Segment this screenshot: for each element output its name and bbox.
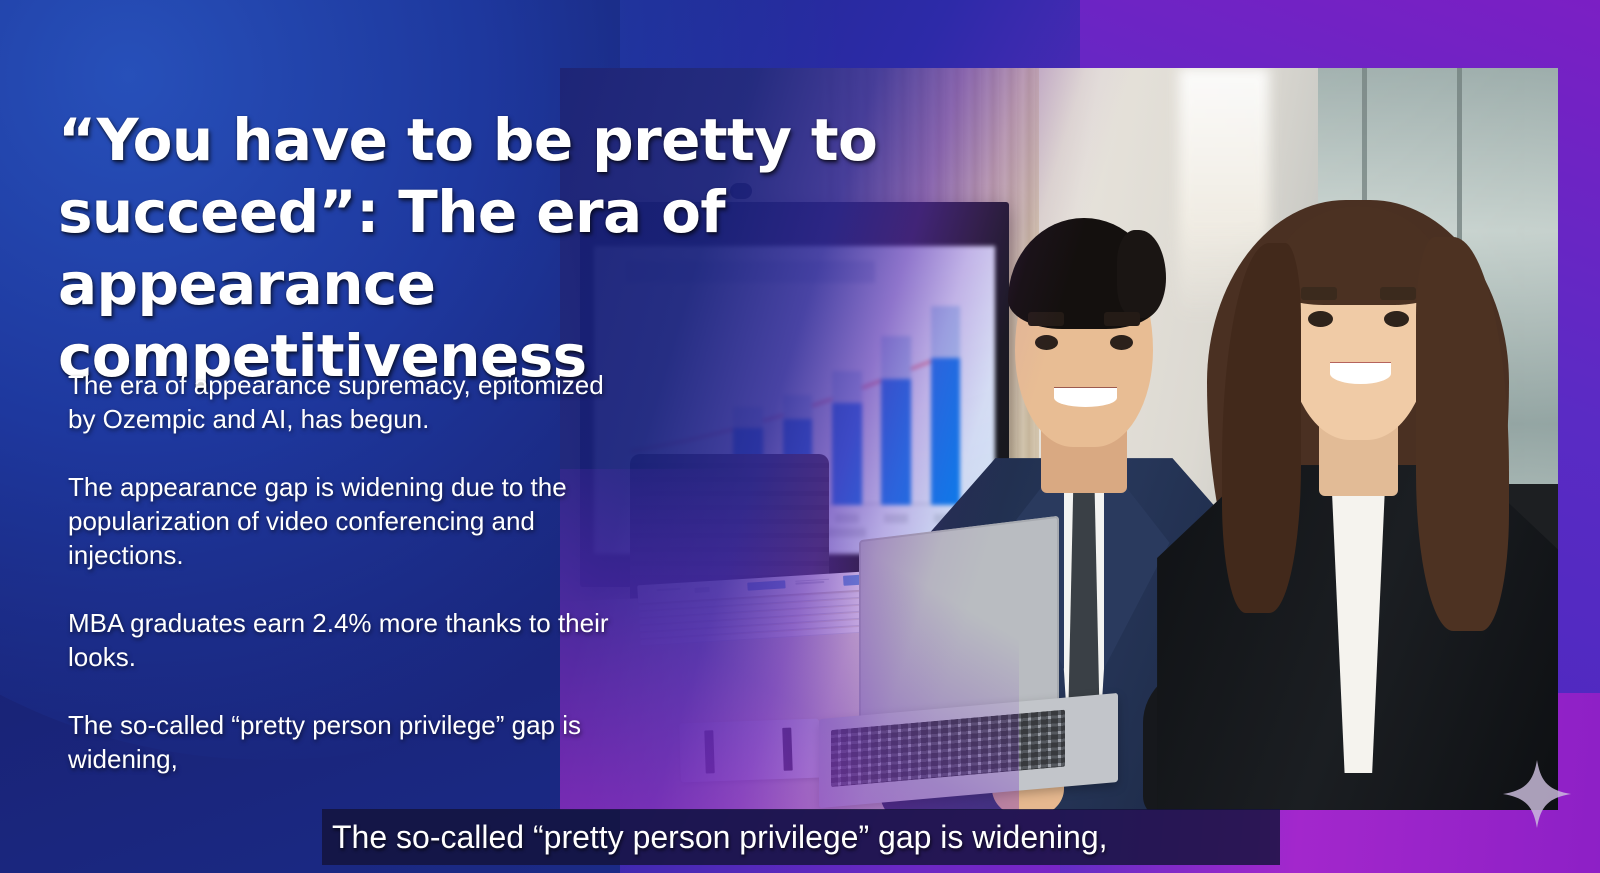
bullet-item: MBA graduates earn 2.4% more thanks to t…	[68, 606, 628, 674]
slide-canvas: “You have to be pretty to succeed”: The …	[0, 0, 1600, 873]
caption-text: The so-called “pretty person privilege” …	[322, 819, 1108, 856]
bullet-item: The so-called “pretty person privilege” …	[68, 708, 628, 776]
caption-bar: The so-called “pretty person privilege” …	[322, 809, 1280, 865]
bullet-item: The era of appearance supremacy, epitomi…	[68, 368, 628, 436]
slide-content: “You have to be pretty to succeed”: The …	[0, 0, 1600, 873]
bullet-item: The appearance gap is widening due to th…	[68, 470, 628, 572]
sparkle-icon	[1500, 757, 1574, 831]
bullet-list: The era of appearance supremacy, epitomi…	[68, 368, 628, 776]
page-title: “You have to be pretty to succeed”: The …	[58, 104, 958, 392]
